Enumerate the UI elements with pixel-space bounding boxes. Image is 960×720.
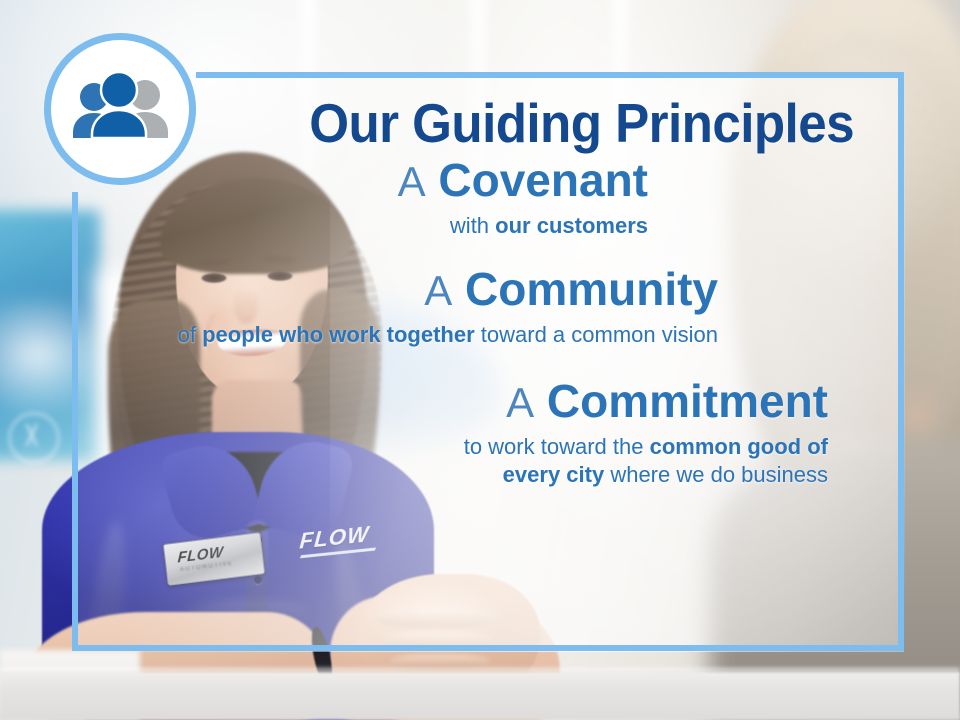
- principle-lead: A Covenant: [78, 157, 648, 205]
- principle-keyword: Covenant: [438, 154, 648, 206]
- principle-lead: A Community: [78, 266, 718, 314]
- detail-plain-after: toward a common vision: [475, 322, 718, 347]
- table-surface: [0, 672, 960, 720]
- detail-plain-after: where we do business: [604, 462, 828, 487]
- guiding-principles-graphic: FLOW FLOW AUTOMOTIVE: [0, 0, 960, 720]
- principle-detail: to work toward the common good of every …: [458, 433, 828, 490]
- page-title: Our Guiding Principles: [132, 96, 854, 151]
- principle-lead: A Commitment: [78, 378, 828, 426]
- principle-article: A: [424, 267, 452, 314]
- principle-article: A: [506, 379, 534, 426]
- detail-plain-before: with: [450, 213, 495, 238]
- principle-commitment: A Commitment to work toward the common g…: [78, 378, 854, 490]
- detail-emphasis: people who work together: [202, 322, 475, 347]
- principle-detail: with our customers: [78, 212, 648, 241]
- detail-plain-before: of: [178, 322, 202, 347]
- principle-article: A: [398, 158, 426, 205]
- detail-emphasis: our customers: [495, 213, 648, 238]
- principle-covenant: A Covenant with our customers: [78, 157, 854, 240]
- detail-plain-before: to work toward the: [464, 434, 650, 459]
- principle-keyword: Community: [465, 263, 718, 315]
- principle-community: A Community of people who work together …: [78, 266, 854, 349]
- principle-keyword: Commitment: [547, 375, 828, 427]
- copy-block: Our Guiding Principles A Covenant with o…: [78, 78, 898, 645]
- principle-detail: of people who work together toward a com…: [78, 321, 718, 350]
